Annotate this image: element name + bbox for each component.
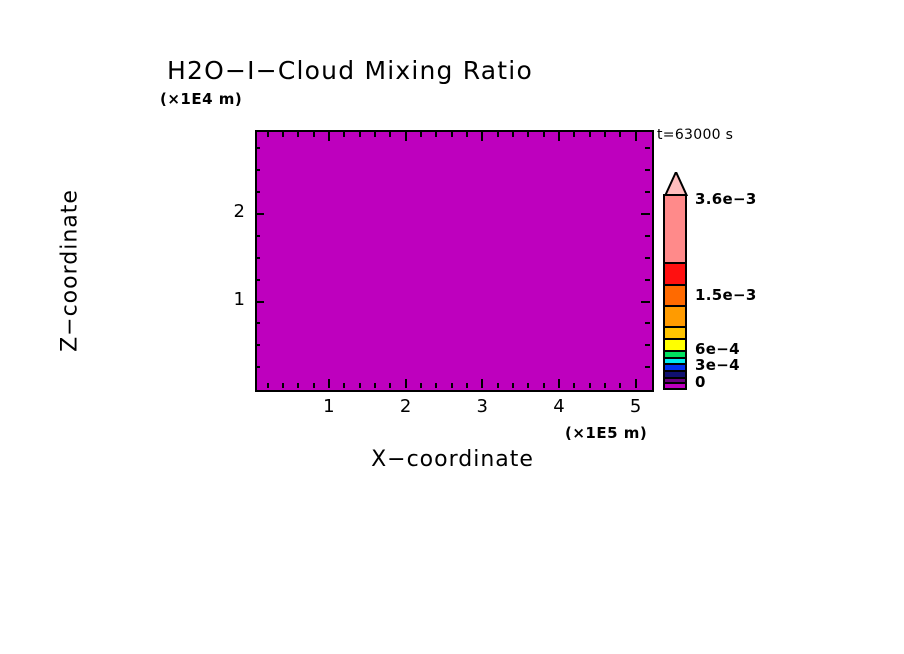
x-axis-units-label: (×1E5 m): [565, 424, 647, 442]
colorbar-band: [665, 370, 685, 377]
x-tick-minor: [313, 383, 315, 388]
y-axis-units-label: (×1E4 m): [160, 90, 242, 108]
x-tick-minor-top: [297, 132, 299, 137]
y-tick-minor: [255, 257, 260, 259]
x-tick-major-top: [558, 132, 560, 141]
x-tick-minor-top: [589, 132, 591, 137]
contour-heatmap: [257, 132, 652, 390]
x-tick-minor-top: [267, 132, 269, 137]
x-tick-minor-top: [527, 132, 529, 137]
x-tick-minor: [374, 383, 376, 388]
colorbar-band: [665, 363, 685, 370]
x-tick-minor: [543, 383, 545, 388]
y-tick-minor-right: [645, 191, 650, 193]
x-tick-minor-top: [604, 132, 606, 137]
colorbar-tick-label: 0: [695, 373, 706, 391]
y-tick-minor-right: [645, 147, 650, 149]
colorbar[interactable]: [663, 172, 689, 390]
colorbar-arrow-cap: [663, 172, 689, 196]
y-tick-major: [255, 301, 264, 303]
colorbar-tick-label: 3e−4: [695, 356, 740, 374]
x-tick-minor-top: [282, 132, 284, 137]
x-tick-major-top: [405, 132, 407, 141]
colorbar-band: [665, 196, 685, 262]
y-tick-minor-right: [645, 169, 650, 171]
x-tick-minor: [435, 383, 437, 388]
x-tick-minor: [420, 383, 422, 388]
x-tick-minor: [527, 383, 529, 388]
colorbar-tick-label: 3.6e−3: [695, 190, 757, 208]
y-tick-label: 1: [219, 289, 245, 310]
colorbar-tick-label: 1.5e−3: [695, 286, 757, 304]
x-tick-minor-top: [359, 132, 361, 137]
x-tick-minor: [389, 383, 391, 388]
y-tick-minor: [255, 279, 260, 281]
x-tick-major-top: [328, 132, 330, 141]
colorbar-band: [665, 338, 685, 350]
x-tick-minor-top: [619, 132, 621, 137]
y-tick-major-right: [641, 301, 650, 303]
x-tick-minor-top: [343, 132, 345, 137]
y-tick-minor-right: [645, 257, 650, 259]
x-tick-major-top: [481, 132, 483, 141]
y-tick-minor: [255, 147, 260, 149]
x-tick-major: [558, 379, 560, 388]
y-tick-minor: [255, 169, 260, 171]
x-tick-major: [405, 379, 407, 388]
x-tick-label: 2: [391, 396, 421, 417]
x-tick-minor: [297, 383, 299, 388]
colorbar-bands: [663, 194, 687, 390]
y-tick-minor-right: [645, 344, 650, 346]
x-tick-major: [481, 379, 483, 388]
x-tick-minor: [282, 383, 284, 388]
x-tick-minor-top: [374, 132, 376, 137]
colorbar-band: [665, 350, 685, 357]
colorbar-band: [665, 262, 685, 285]
x-tick-minor: [619, 383, 621, 388]
colorbar-band: [665, 382, 685, 388]
x-tick-minor-top: [543, 132, 545, 137]
x-tick-minor-top: [313, 132, 315, 137]
y-axis-title: Z−coordinate: [58, 141, 83, 401]
x-tick-label: 3: [467, 396, 497, 417]
x-tick-minor: [267, 383, 269, 388]
x-tick-minor-top: [512, 132, 514, 137]
x-tick-minor: [589, 383, 591, 388]
x-tick-minor: [451, 383, 453, 388]
y-tick-minor: [255, 191, 260, 193]
x-tick-minor-top: [497, 132, 499, 137]
y-tick-minor-right: [645, 322, 650, 324]
y-tick-minor: [255, 344, 260, 346]
y-tick-label: 2: [219, 201, 245, 222]
colorbar-band: [665, 357, 685, 364]
x-tick-minor-top: [420, 132, 422, 137]
colorbar-band: [665, 284, 685, 305]
x-tick-major: [635, 379, 637, 388]
x-tick-minor: [573, 383, 575, 388]
x-tick-minor-top: [466, 132, 468, 137]
plot-area[interactable]: [255, 130, 654, 392]
x-tick-major-top: [635, 132, 637, 141]
x-tick-minor-top: [573, 132, 575, 137]
page-title: H2O−I−Cloud Mixing Ratio: [0, 56, 700, 85]
x-tick-label: 1: [314, 396, 344, 417]
x-axis-title: X−coordinate: [255, 447, 650, 472]
x-tick-minor-top: [435, 132, 437, 137]
time-annotation: t=63000 s: [657, 127, 733, 143]
y-tick-major-right: [641, 213, 650, 215]
x-tick-minor: [359, 383, 361, 388]
x-tick-minor: [497, 383, 499, 388]
x-tick-minor: [466, 383, 468, 388]
colorbar-band: [665, 326, 685, 338]
x-tick-minor-top: [451, 132, 453, 137]
x-tick-minor: [512, 383, 514, 388]
x-tick-label: 4: [544, 396, 574, 417]
y-tick-minor: [255, 366, 260, 368]
y-tick-minor: [255, 322, 260, 324]
y-tick-minor: [255, 235, 260, 237]
x-tick-minor-top: [389, 132, 391, 137]
y-tick-minor-right: [645, 279, 650, 281]
x-tick-major: [328, 379, 330, 388]
x-tick-minor: [604, 383, 606, 388]
x-tick-label: 5: [621, 396, 651, 417]
colorbar-band: [665, 305, 685, 326]
x-tick-minor: [343, 383, 345, 388]
y-tick-minor-right: [645, 366, 650, 368]
y-tick-minor-right: [645, 235, 650, 237]
y-tick-major: [255, 213, 264, 215]
